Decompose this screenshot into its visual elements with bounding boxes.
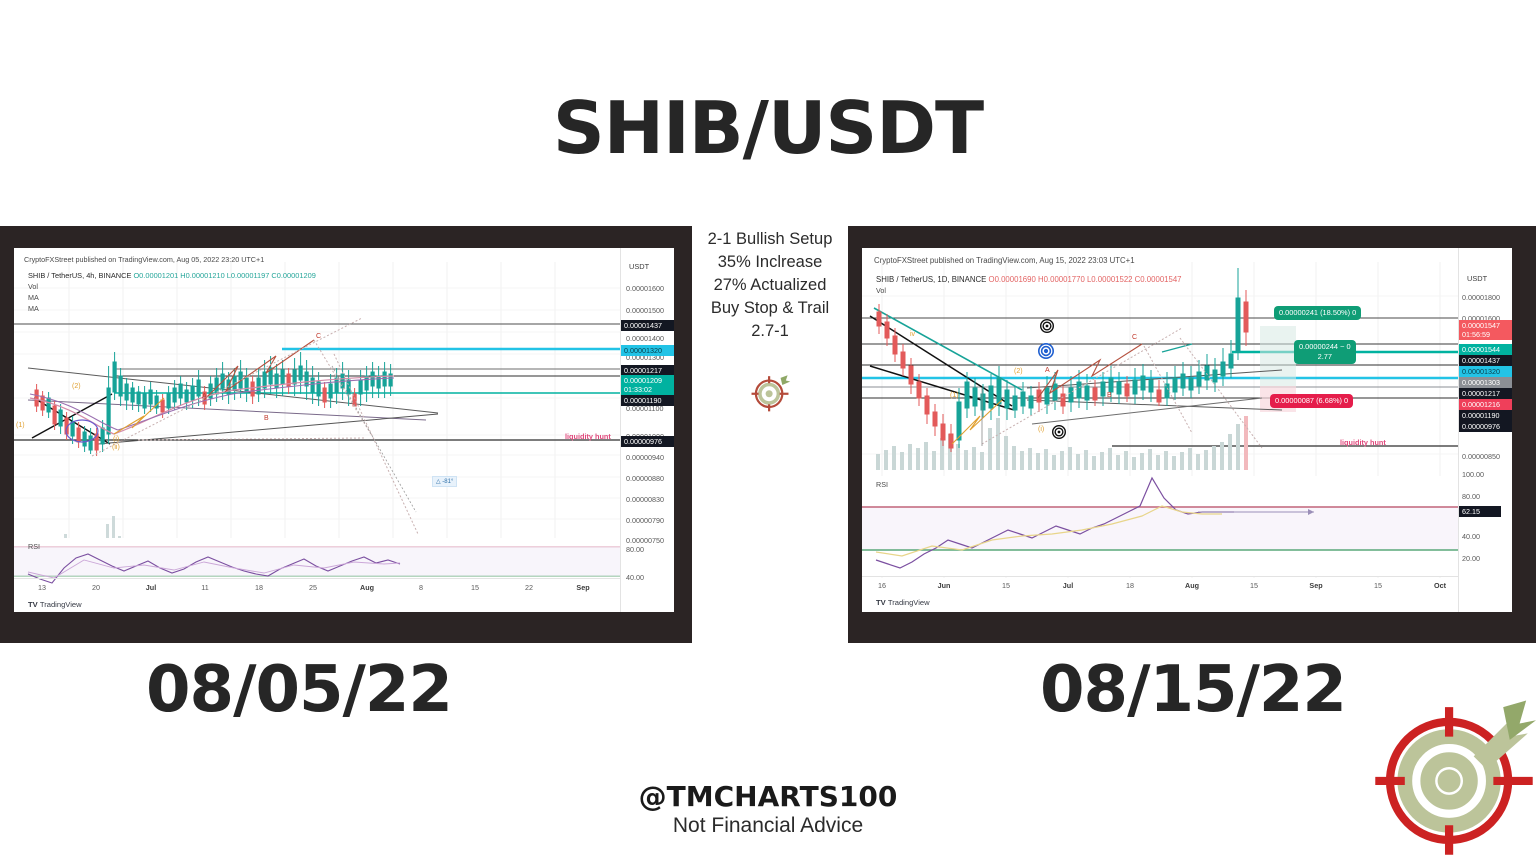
right-price-box-1217: 0.00001217 — [1459, 388, 1512, 399]
right-date-tick-7: Sep — [1309, 581, 1322, 590]
right-date-tick-8: 15 — [1374, 581, 1382, 590]
target-bullseye-icon — [748, 370, 792, 414]
right-wave-label-c: C — [1132, 334, 1137, 341]
right-brand-name: TradingView — [888, 598, 930, 607]
right-wave-label-b: B — [1107, 392, 1112, 399]
right-price-box-0976: 0.00000976 — [1459, 421, 1512, 432]
setup-annotation: 2-1 Bullish Setup 35% Inclrease 27% Actu… — [688, 228, 852, 343]
left-price-box-0976: 0.00000976 — [621, 436, 674, 447]
right-date-tick-6: 15 — [1250, 581, 1258, 590]
left-price-box-last-value: 0.00001209 — [624, 376, 672, 385]
right-rsi-title[interactable]: RSI — [876, 480, 888, 489]
left-date-tick-3: 11 — [201, 583, 208, 592]
right-indicator-vol[interactable]: Vol — [876, 286, 886, 295]
right-date-tick-1: Jun — [938, 581, 951, 590]
left-symbol-line: SHIB / TetherUS, 4h, BINANCE O0.00001201… — [28, 271, 316, 280]
right-price-box-1544: 0.00001544 — [1459, 344, 1512, 355]
left-tradingview-brand[interactable]: TV TradingView — [28, 600, 82, 609]
left-date-tick-0: 13 — [38, 583, 46, 592]
left-date-tick-6: Aug — [360, 583, 374, 592]
right-symbol-text: SHIB / TetherUS, 1D, BINANCE — [876, 275, 986, 284]
annotation-line-1: 2-1 Bullish Setup — [688, 228, 852, 251]
page-title: SHIB/USDT — [0, 86, 1536, 170]
right-date-axis[interactable]: 16 Jun 15 Jul 18 Aug 15 Sep 15 Oct — [862, 576, 1458, 596]
right-target-marker-lower-icon — [1052, 425, 1066, 439]
left-wave-label-a: A — [202, 393, 207, 400]
right-tradingview-chart[interactable]: CryptoFXStreet published on TradingView.… — [862, 248, 1512, 612]
right-price-box-1190: 0.00001190 — [1459, 410, 1512, 421]
left-ohlc-high: H0.00001210 — [180, 271, 224, 280]
left-indicator-ma-1[interactable]: MA — [28, 293, 39, 302]
right-price-box-1216: 0.00001216 — [1459, 399, 1512, 410]
right-target-marker-upper-icon — [1040, 319, 1054, 333]
left-brand-name: TradingView — [40, 600, 82, 609]
right-rsi-tick-100: 100.00 — [1462, 470, 1484, 479]
left-axis-unit: USDT — [629, 262, 649, 271]
left-ohlc-close: C0.00001209 — [271, 271, 315, 280]
social-handle: @TMCHARTS100 — [0, 780, 1536, 813]
left-wave-label-c: C — [316, 333, 321, 340]
left-wave-label-1: (1) — [16, 422, 25, 429]
left-date-tick-9: 22 — [525, 583, 533, 592]
left-date-tick-2: Jul — [146, 583, 156, 592]
left-price-box-last-countdown: 01:33:02 — [624, 385, 672, 394]
left-rsi-title[interactable]: RSI — [28, 542, 40, 551]
right-measure-pill-ratio-line2: 2.77 — [1299, 352, 1351, 362]
right-axis-tick-0: 0.00001800 — [1462, 293, 1500, 302]
right-price-axis[interactable]: USDT 0.00001800 0.00001600 0.00000850 0.… — [1458, 248, 1512, 612]
left-indicator-ma-2[interactable]: MA — [28, 304, 39, 313]
left-symbol-text: SHIB / TetherUS, 4h, BINANCE — [28, 271, 131, 280]
annotation-line-3: 27% Actualized — [688, 274, 852, 297]
left-tradingview-chart[interactable]: CryptoFXStreet published on TradingView.… — [14, 248, 674, 612]
left-price-box-1320: 0.00001320 — [621, 345, 674, 356]
left-date-tick-4: 18 — [255, 583, 263, 592]
right-ohlc-high: H0.00001770 — [1038, 275, 1085, 284]
left-axis-tick-1: 0.00001500 — [626, 306, 664, 315]
right-price-box-1303: 0.00001303 — [1459, 377, 1512, 388]
left-wave-label-2: (2) — [72, 383, 81, 390]
corner-target-bullseye-icon — [1372, 692, 1536, 860]
left-axis-tick-6: 0.00000940 — [626, 453, 664, 462]
right-date-tick-4: 18 — [1126, 581, 1134, 590]
right-target-marker-entry-icon — [1038, 343, 1054, 359]
disclaimer: Not Financial Advice — [0, 814, 1536, 838]
right-date-tick-2: 15 — [1002, 581, 1010, 590]
right-axis-tick-2: 0.00000850 — [1462, 452, 1500, 461]
left-axis-tick-7: 0.00000880 — [626, 474, 664, 483]
left-price-axis[interactable]: USDT 0.00001600 0.00001500 0.00001400 0.… — [620, 248, 674, 612]
left-rsi-tick-40: 40.00 — [626, 573, 644, 582]
poster-root: SHIB/USDT 2-1 Bullish Setup 35% Inclreas… — [0, 0, 1536, 864]
right-wave-label-a: A — [1045, 367, 1050, 374]
annotation-line-2: 35% Inclrease — [688, 251, 852, 274]
left-date-tick-7: 8 — [419, 583, 423, 592]
right-rsi-value-box: 62.15 — [1459, 506, 1501, 517]
left-ohlc-low: L0.00001197 — [227, 271, 270, 280]
right-date-tick-5: Aug — [1185, 581, 1199, 590]
right-axis-unit: USDT — [1467, 274, 1487, 283]
left-axis-tick-2: 0.00001400 — [626, 334, 664, 343]
tradingview-logo-icon: TV — [876, 598, 886, 607]
right-rsi-tick-80: 80.00 — [1462, 492, 1480, 501]
left-axis-tick-0: 0.00001600 — [626, 284, 664, 293]
right-rsi-panel — [862, 476, 1458, 576]
right-wave-label-1: (1) — [950, 392, 959, 399]
left-liquidity-hunt-label: liquidity hunt — [565, 432, 611, 441]
right-date-tick-3: Jul — [1063, 581, 1073, 590]
right-symbol-line: SHIB / TetherUS, 1D, BINANCE O0.00001690… — [876, 275, 1182, 284]
right-measure-pill-ratio: 0.00000244 ~ 0 2.77 — [1294, 340, 1356, 364]
right-date-tick-9: Oct — [1434, 581, 1446, 590]
right-price-box-last: 0.00001547 01:56:59 — [1459, 320, 1512, 340]
left-ohlc-open: O0.00001201 — [133, 271, 178, 280]
left-price-box-1190: 0.00001190 — [621, 395, 674, 406]
right-measure-pill-up-1: 0.00000241 (18.50%) 0 — [1274, 306, 1361, 320]
left-price-box-1437: 0.00001437 — [621, 320, 674, 331]
right-publisher-line: CryptoFXStreet published on TradingView.… — [874, 256, 1135, 265]
right-tradingview-brand[interactable]: TV TradingView — [876, 598, 930, 607]
right-wave-label-2: (2) — [1014, 368, 1023, 375]
right-ohlc-close: C0.00001547 — [1135, 275, 1182, 284]
right-measure-pill-down: 0.00000087 (6.68%) 0 — [1270, 394, 1353, 408]
left-wave-label-ii: (ii) — [112, 444, 120, 451]
tradingview-logo-icon: TV — [28, 600, 38, 609]
left-date-tick-1: 20 — [92, 583, 100, 592]
left-wave-label-b: B — [264, 415, 269, 422]
right-price-box-1437: 0.00001437 — [1459, 355, 1512, 366]
left-rsi-tick-80: 80.00 — [626, 545, 644, 554]
left-date-tick-8: 15 — [471, 583, 479, 592]
left-date-tick-10: Sep — [576, 583, 589, 592]
left-wave-label-i: (i) — [113, 436, 119, 443]
left-angle-value: -81° — [442, 479, 453, 485]
right-liquidity-hunt-label: liquidity hunt — [1340, 438, 1386, 447]
right-wave-label-i: (i) — [1038, 426, 1044, 433]
right-rsi-tick-20: 20.00 — [1462, 554, 1480, 563]
right-date-tick-0: 16 — [878, 581, 886, 590]
right-price-box-last-countdown: 01:56:59 — [1462, 330, 1510, 339]
annotation-line-5: 2.7-1 — [688, 320, 852, 343]
left-date-axis[interactable]: 13 20 Jul 11 18 25 Aug 8 15 22 Sep — [14, 578, 620, 598]
right-ohlc-open: O0.00001690 — [989, 275, 1036, 284]
right-price-box-1320: 0.00001320 — [1459, 366, 1512, 377]
annotation-line-4: Buy Stop & Trail — [688, 297, 852, 320]
right-date-caption: 08/15/22 — [1040, 653, 1346, 727]
right-measure-pill-ratio-line1: 0.00000244 ~ 0 — [1299, 342, 1351, 352]
left-publisher-line: CryptoFXStreet published on TradingView.… — [24, 255, 264, 264]
right-rsi-tick-40: 40.00 — [1462, 532, 1480, 541]
right-ohlc-low: L0.00001522 — [1087, 275, 1133, 284]
left-axis-tick-9: 0.00000790 — [626, 516, 664, 525]
left-axis-tick-8: 0.00000830 — [626, 495, 664, 504]
left-price-box-last: 0.00001209 01:33:02 — [621, 375, 674, 395]
left-axis-tick-10: 0.00000750 — [626, 536, 664, 545]
left-indicator-vol[interactable]: Vol — [28, 282, 38, 291]
right-wave-label-iv: iv — [910, 331, 915, 338]
left-date-tick-5: 25 — [309, 583, 317, 592]
left-angle-measure-tag[interactable]: △ -81° — [432, 476, 457, 487]
left-date-caption: 08/05/22 — [146, 653, 452, 727]
right-price-box-last-value: 0.00001547 — [1462, 321, 1510, 330]
